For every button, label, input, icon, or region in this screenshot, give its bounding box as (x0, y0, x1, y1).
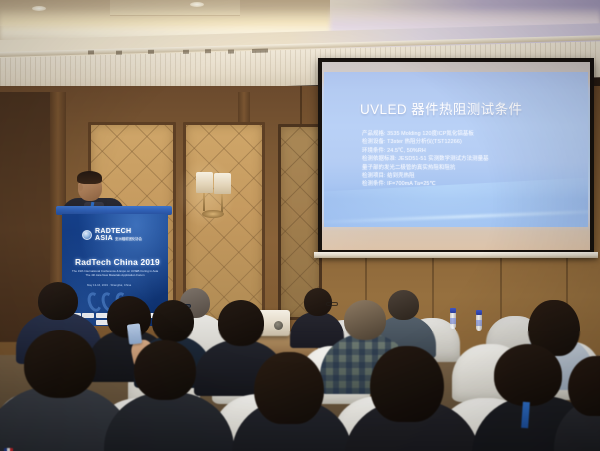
podium-subtitle-line-2: The 4th Asia New Materials Application F… (72, 273, 158, 277)
slide-line: 环境条件: 24.5℃, 50%RH (362, 147, 489, 155)
bottle-cap (476, 310, 482, 315)
sconce-arm-right (221, 194, 223, 212)
radtech-logo-name: RADTECH (95, 228, 131, 235)
bottle-label (450, 318, 456, 324)
radtech-logo-text: RADTECH ASIA 亚洲辐射固化协会 (95, 228, 142, 242)
screen-bottom-bar (314, 252, 598, 258)
podium-event-title: RadTech China 2019 (75, 257, 160, 267)
sconce-shade-left (196, 172, 213, 193)
person-head-balding (344, 300, 386, 340)
slide-line: 检测项目: 结到壳热阻 (362, 172, 489, 180)
eyeglasses (326, 302, 338, 306)
slide-line: 量子部的发光二极管的真实热阻和阻抗 (362, 164, 489, 172)
bottle-label (476, 320, 482, 326)
ceiling-downlight (190, 2, 204, 7)
person-head (152, 300, 194, 342)
person-hair-long (254, 352, 324, 424)
sconce-arm-left (203, 193, 205, 211)
person-head (134, 340, 196, 400)
person-head (38, 282, 78, 320)
water-bottle (476, 314, 482, 331)
person-head (24, 330, 96, 398)
person-hair-long (370, 346, 444, 422)
sponsor-logo (96, 313, 108, 318)
conference-photo-scene: UVLED 器件热阻测试条件 产品规格: 3535 Molding 120度IC… (0, 0, 600, 451)
slide-body-text: 产品规格: 3535 Molding 120度ICP氮化铝基板 检测设备: T3… (362, 130, 489, 189)
slide-line: 检测依据标准: JESD51-51 实测数学测试方法测量基 (362, 155, 489, 163)
speaker-ear (78, 184, 83, 191)
radtech-logo-sub: ASIA (95, 235, 113, 242)
podium-event-subtitle: The 19th International Conference & Expo… (72, 269, 158, 277)
slide-line: 产品规格: 3535 Molding 120度ICP氮化铝基板 (362, 130, 489, 138)
slide-content-area: UVLED 器件热阻测试条件 产品规格: 3535 Molding 120度IC… (324, 72, 588, 227)
slide-line: 检测设备: T3ster 热阻分析仪(TST12266) (362, 138, 489, 146)
radtech-logo: RADTECH ASIA 亚洲辐射固化协会 (82, 228, 142, 242)
water-bottle (450, 312, 456, 329)
sponsor-logo (96, 320, 108, 325)
radtech-logo-sub-small: 亚洲辐射固化协会 (115, 237, 142, 241)
ceiling-downlight (32, 6, 46, 11)
podium-event-date: May 13-16, 2019 · Shanghai, China (87, 283, 131, 287)
slide-line: 检测条件: IF=700mA Ta=25℃ (362, 180, 489, 188)
person-head (218, 300, 264, 346)
projector-lens (274, 321, 283, 330)
projection-screen-assembly: UVLED 器件热阻测试条件 产品规格: 3535 Molding 120度IC… (318, 58, 594, 263)
smartphone[interactable] (127, 323, 142, 344)
sconce-shade-right (214, 173, 231, 194)
person-head (494, 344, 562, 406)
sconce-base (202, 210, 224, 218)
slide-title: UVLED 器件热阻测试条件 (360, 98, 522, 118)
speaker-hair (77, 171, 102, 184)
radtech-seal-icon (82, 230, 92, 240)
person-head (388, 290, 419, 320)
bottle-cap (450, 308, 456, 313)
